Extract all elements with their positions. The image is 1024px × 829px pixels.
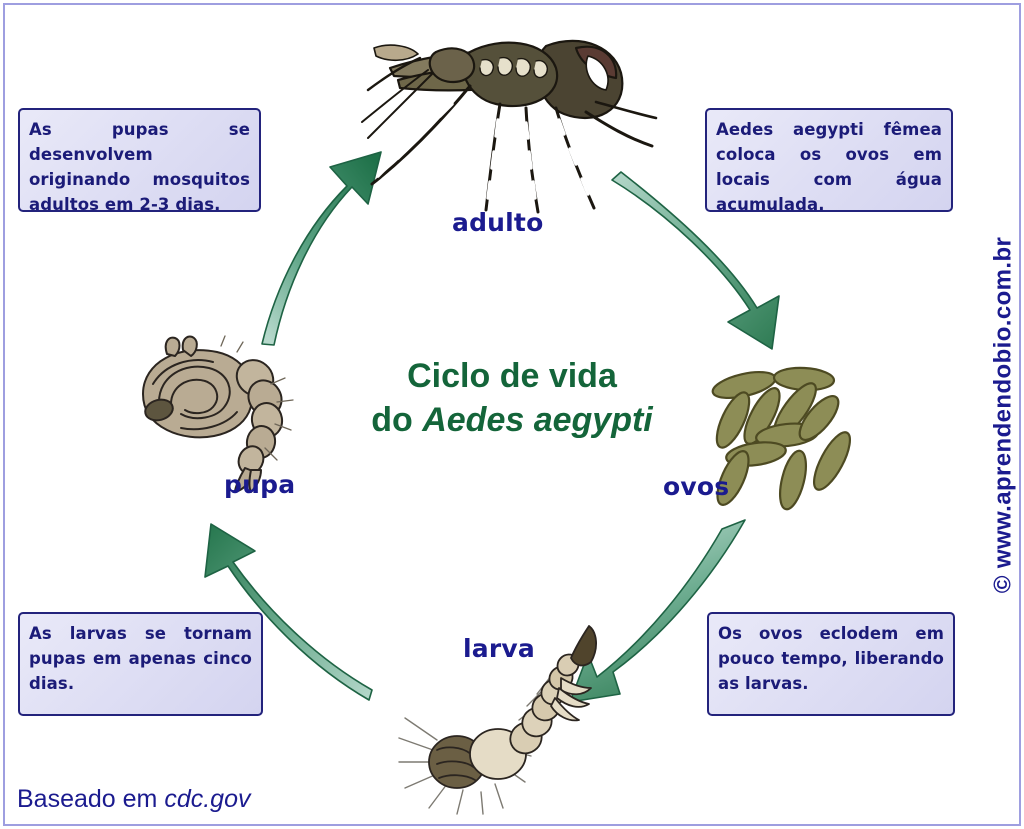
note-larva-to-pupa: As larvas se tornam pupas em apenas cinc… [18, 612, 263, 716]
note-pupa-to-adulto: As pupas se desenvolvem originando mosqu… [18, 108, 261, 212]
title-species: Aedes aegypti [422, 401, 653, 439]
title-prefix: do [371, 401, 422, 439]
note-ovos-to-larva: Os ovos eclodem em pouco tempo, liberand… [707, 612, 955, 716]
title-line-2: do Aedes aegypti [312, 398, 712, 442]
stage-label-larva: larva [463, 634, 535, 663]
adult-mosquito-illustration [350, 8, 660, 223]
pupa-illustration [125, 332, 310, 492]
title-line-1: Ciclo de vida [312, 354, 712, 398]
copyright-watermark: © www.aprendendobio.com.br [980, 0, 1024, 829]
stage-label-ovos: ovos [663, 472, 729, 501]
note-text: As larvas se tornam pupas em apenas cinc… [29, 621, 252, 696]
note-text: Aedes aegypti fêmea coloca os ovos em lo… [716, 117, 942, 217]
stage-label-pupa: pupa [224, 470, 295, 499]
note-adulto-to-ovos: Aedes aegypti fêmea coloca os ovos em lo… [705, 108, 953, 212]
note-text: As pupas se desenvolvem originando mosqu… [29, 117, 250, 217]
watermark-text: © www.aprendendobio.com.br [989, 236, 1017, 593]
credit-site: cdc.gov [164, 785, 250, 813]
life-cycle-diagram: Ciclo de vida do Aedes aegypti adulto ov… [0, 0, 1024, 829]
stage-label-adulto: adulto [452, 208, 543, 237]
diagram-title: Ciclo de vida do Aedes aegypti [312, 354, 712, 442]
source-credit: Baseado em cdc.gov [17, 785, 251, 814]
eggs-illustration [700, 358, 900, 528]
credit-prefix: Baseado em [17, 785, 164, 813]
note-text: Os ovos eclodem em pouco tempo, liberand… [718, 621, 944, 696]
